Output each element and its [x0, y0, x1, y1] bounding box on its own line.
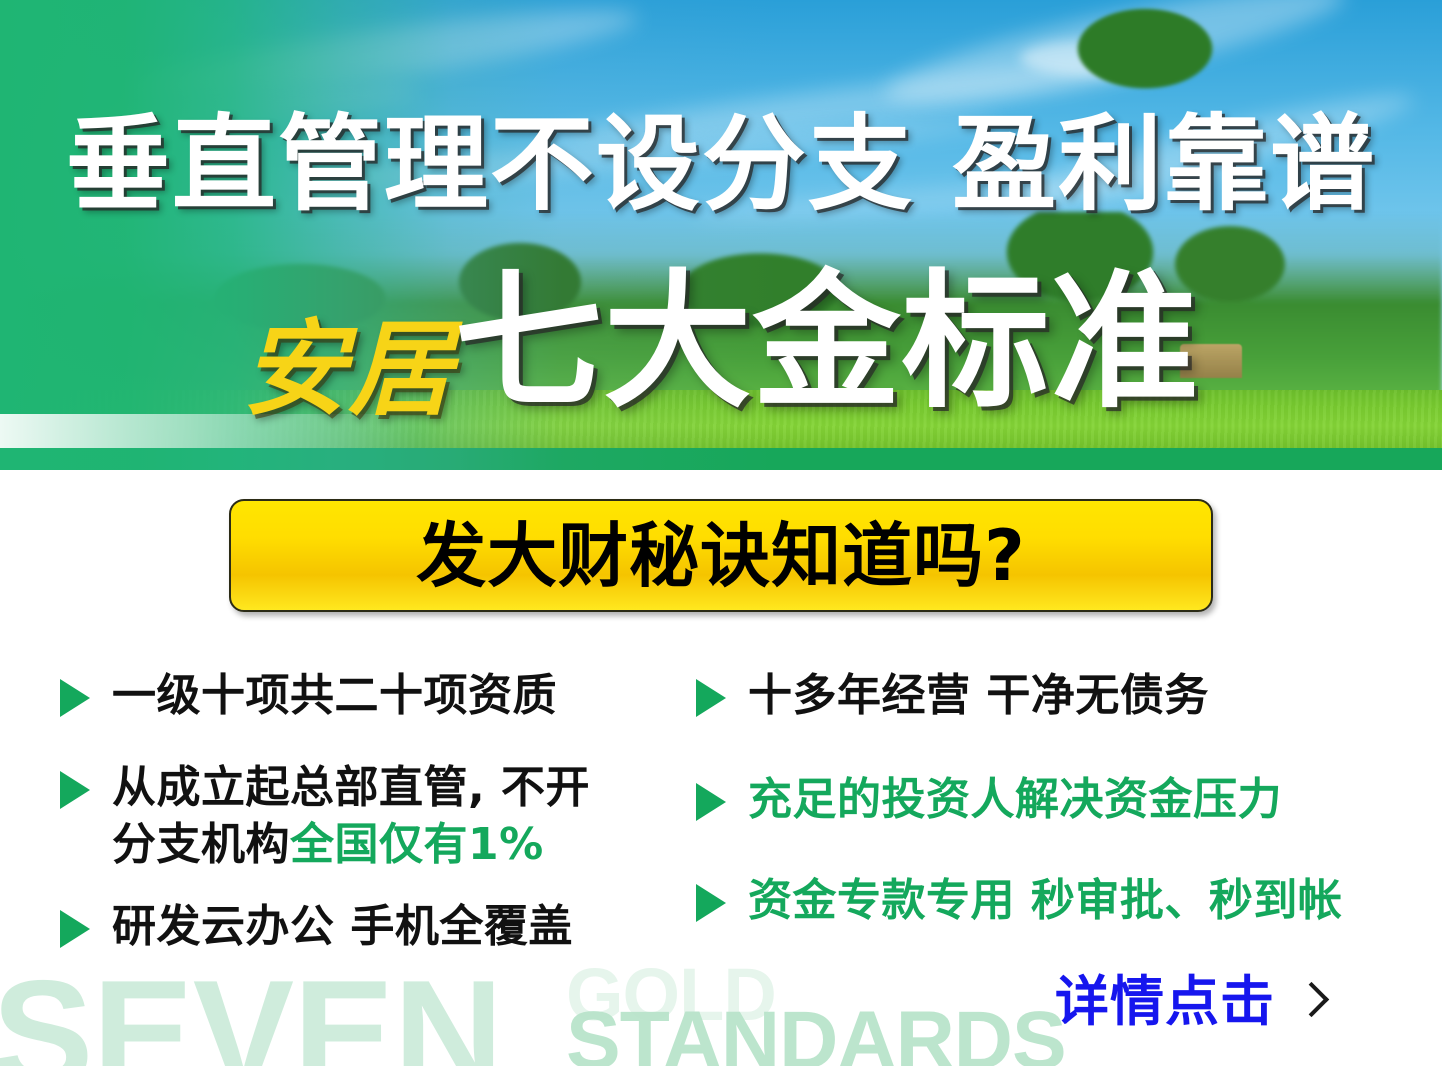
triangle-right-icon — [60, 771, 90, 809]
triangle-right-icon — [696, 783, 726, 821]
chevron-right-icon — [1297, 981, 1319, 1023]
list-item-label: 一级十项共二十项资质 — [112, 668, 557, 724]
hero-subtitle-main: 七大金标准 — [455, 268, 1200, 416]
ribbon-label: 发大财秘诀知道吗? — [416, 521, 1026, 591]
list-item-label: 资金专款专用 秒审批、秒到帐 — [748, 873, 1342, 929]
list-item-label: 从成立起总部直管, 不开 分支机构全国仅有1% — [112, 760, 590, 873]
list-item: 十多年经营 干净无债务 — [696, 668, 1426, 724]
hero-subtitle: 安居七大金标准 — [0, 268, 1442, 421]
list-item: 从成立起总部直管, 不开 分支机构全国仅有1% — [60, 760, 700, 873]
list-item-line2-prefix: 分支机构 — [112, 819, 290, 870]
list-item-line1: 从成立起总部直管, 不开 — [112, 762, 590, 813]
watermark-seven: SEVEN — [0, 958, 502, 1066]
hero-banner: 垂直管理不设分支 盈利靠谱 安居七大金标准 — [0, 0, 1442, 470]
list-item: 充足的投资人解决资金压力 — [696, 772, 1426, 828]
triangle-right-icon — [60, 679, 90, 717]
feature-list-right: 十多年经营 干净无债务 充足的投资人解决资金压力 资金专款专用 秒审批、秒到帐 — [696, 668, 1426, 955]
feature-list-left: 一级十项共二十项资质 从成立起总部直管, 不开 分支机构全国仅有1% 研发云办公… — [60, 668, 700, 981]
watermark-standards: STANDARDS — [566, 1000, 1066, 1066]
list-item: 研发云办公 手机全覆盖 — [60, 899, 700, 955]
triangle-right-icon — [696, 679, 726, 717]
cta-label: 详情点击 — [1055, 975, 1275, 1029]
list-item-label: 研发云办公 手机全覆盖 — [112, 899, 573, 955]
list-item-label: 充足的投资人解决资金压力 — [748, 772, 1282, 828]
list-item: 资金专款专用 秒审批、秒到帐 — [696, 873, 1426, 929]
list-item-label: 十多年经营 干净无债务 — [748, 668, 1209, 724]
list-item: 一级十项共二十项资质 — [60, 668, 700, 724]
list-item-highlight: 全国仅有1% — [290, 819, 544, 870]
hero-headline: 垂直管理不设分支 盈利靠谱 — [0, 112, 1442, 216]
cta-details-link[interactable]: 详情点击 — [1055, 975, 1319, 1029]
triangle-right-icon — [60, 910, 90, 948]
triangle-right-icon — [696, 884, 726, 922]
advertisement-banner: 垂直管理不设分支 盈利靠谱 安居七大金标准 发大财秘诀知道吗? 一级十项共二十项… — [0, 0, 1442, 1066]
headline-ribbon[interactable]: 发大财秘诀知道吗? — [229, 499, 1213, 612]
hero-subtitle-brand: 安居 — [242, 317, 454, 421]
